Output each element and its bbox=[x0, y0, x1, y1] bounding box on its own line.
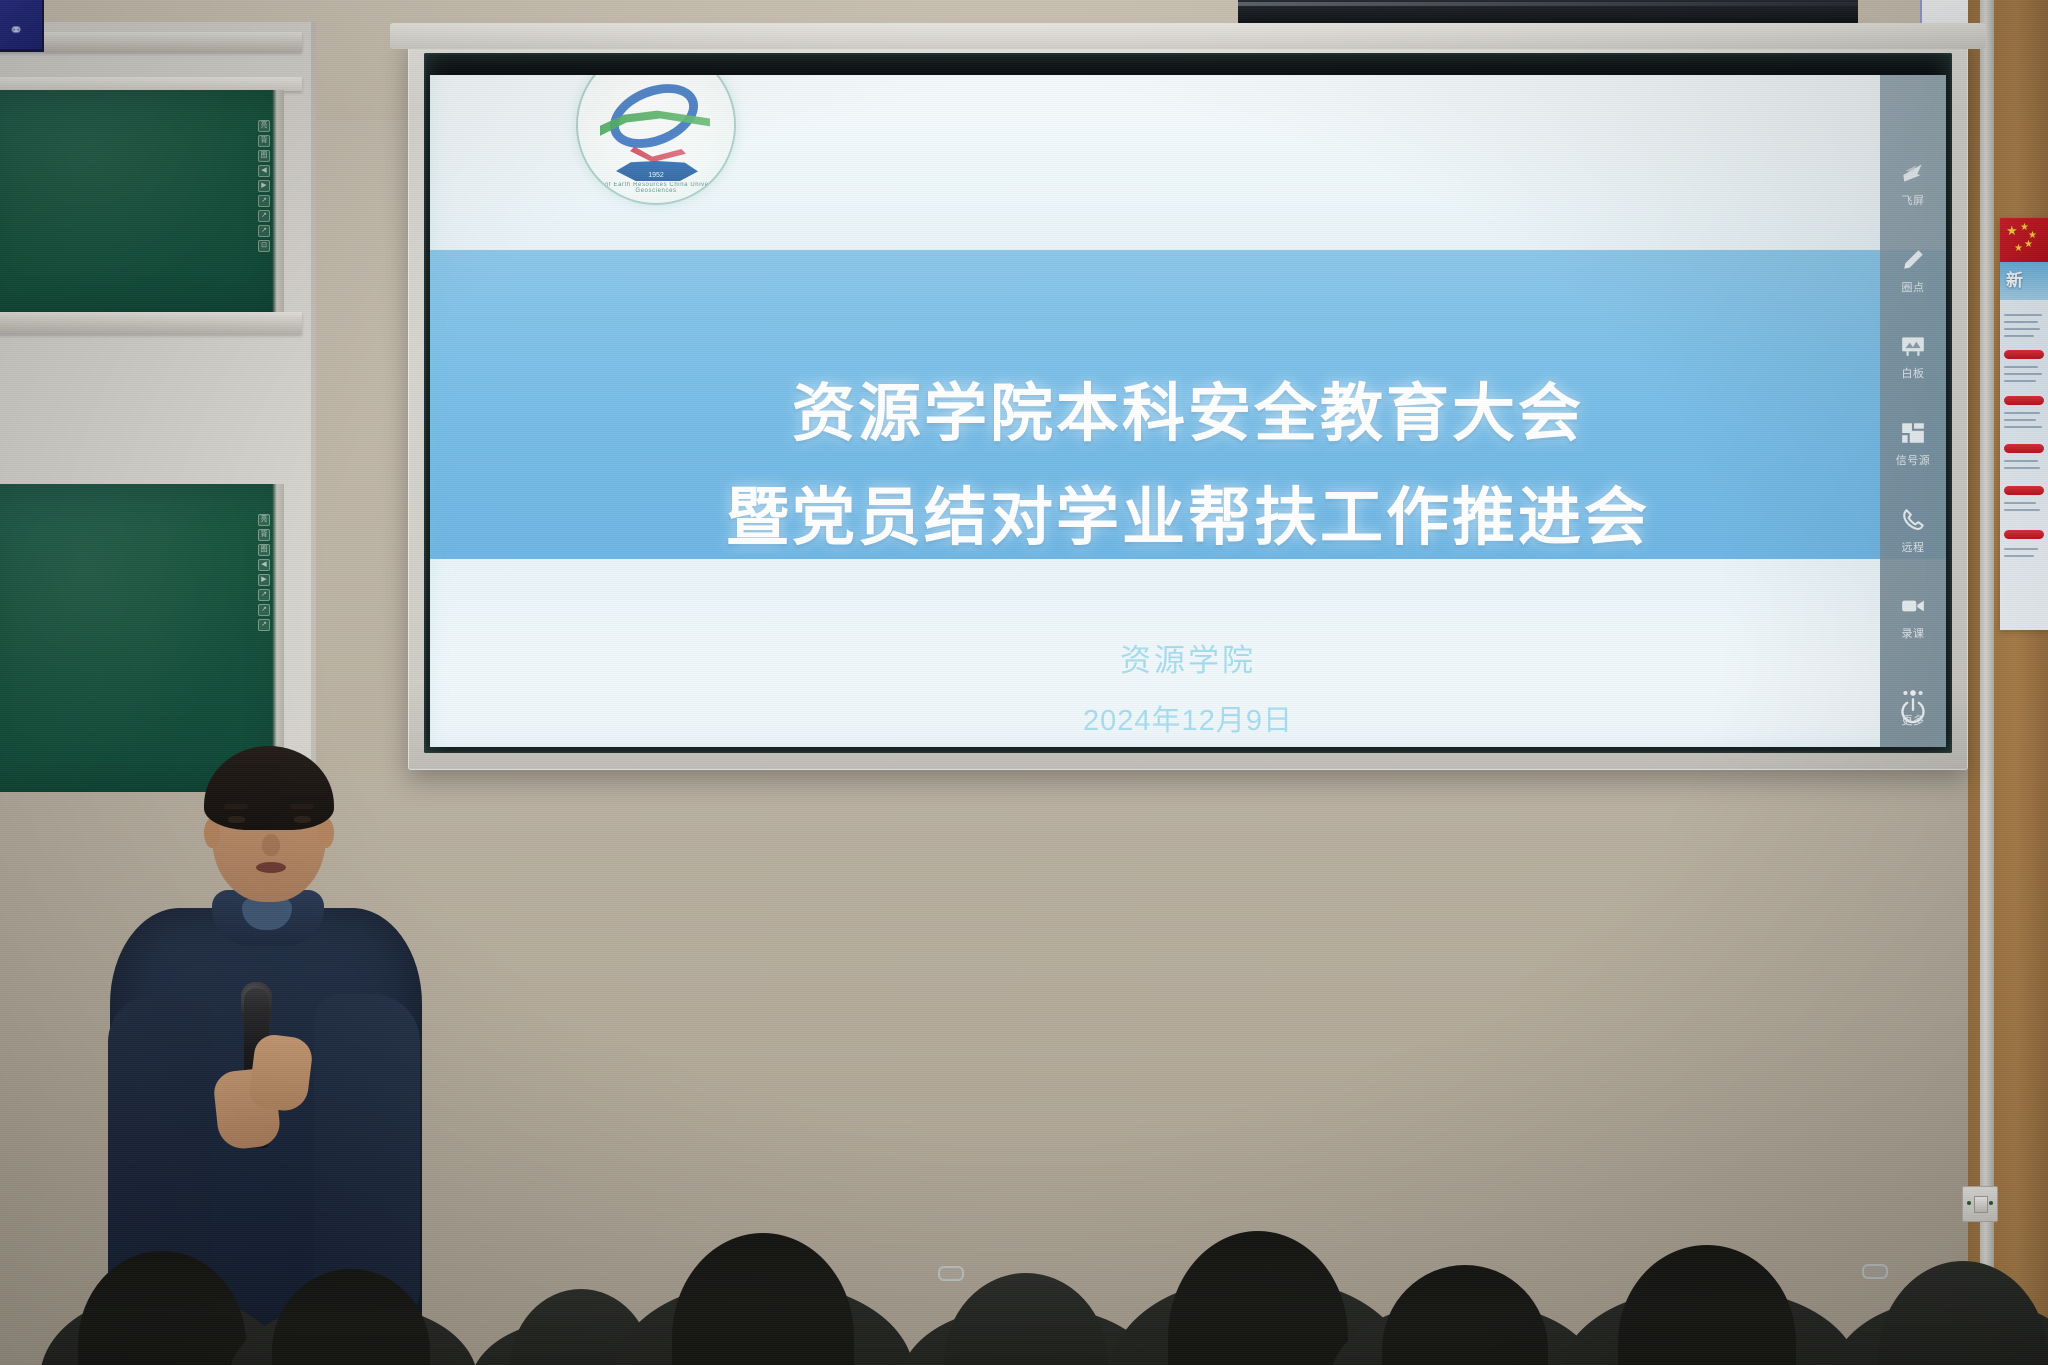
chalkboard-upper: 亮 背 图 ◀ ▶ ↗ ↗ ↗ ⊡ bbox=[0, 90, 284, 315]
toolbar-item-whiteboard[interactable]: 白板 bbox=[1880, 314, 1946, 401]
slide-date: 2024年12月9日 bbox=[430, 697, 1946, 739]
audience-head bbox=[1878, 1261, 2048, 1365]
audience-head bbox=[1168, 1231, 1348, 1365]
board-light-rail bbox=[0, 77, 302, 91]
presentation-slide: 中国地质大学资源学院 1952 School of Earth Resource… bbox=[430, 75, 1946, 747]
audience-head bbox=[1382, 1265, 1548, 1365]
classroom-scene: 亮 背 图 ◀ ▶ ↗ ↗ ↗ ⊡ 亮 背 图 ◀ ▶ ↗ ↗ ↗ bbox=[0, 0, 2048, 1365]
chalk-ctrl-5[interactable]: ▶ bbox=[258, 180, 270, 192]
chalk-ctrl-b5[interactable]: ▶ bbox=[258, 574, 270, 586]
toolbar-item-remote-call[interactable]: 远程 bbox=[1880, 487, 1946, 574]
audience-head bbox=[272, 1269, 430, 1365]
chalkboard-control-strip-upper[interactable]: 亮 背 图 ◀ ▶ ↗ ↗ ↗ ⊡ bbox=[258, 120, 270, 252]
toolbar-label-signal-source: 信号源 bbox=[1896, 452, 1931, 468]
poster-pill-4 bbox=[2004, 486, 2044, 495]
university-emblem-icon: 中国地质大学资源学院 1952 School of Earth Resource… bbox=[578, 75, 734, 203]
toolbar-label-cast: 飞屏 bbox=[1902, 192, 1925, 208]
toolbar-label-whiteboard: 白板 bbox=[1902, 365, 1925, 381]
signal-source-icon bbox=[1900, 420, 1926, 446]
presenter-hair bbox=[204, 746, 334, 830]
toolbar-label-annotate: 圈点 bbox=[1902, 279, 1925, 295]
audience-rows bbox=[0, 1175, 2048, 1365]
chalk-ctrl-b2[interactable]: 背 bbox=[258, 529, 270, 541]
smart-board-bezel: 中国地质大学资源学院 1952 School of Earth Resource… bbox=[424, 53, 1952, 753]
poster-pill-5 bbox=[2004, 530, 2044, 539]
board-middle-rail bbox=[0, 312, 302, 334]
slide-title-line-1: 资源学院本科安全教育大会 bbox=[430, 363, 1946, 454]
toolbar-item-annotate[interactable]: 圈点 bbox=[1880, 228, 1946, 315]
toolbar-label-record: 录课 bbox=[1902, 625, 1925, 641]
presenter-mouth bbox=[256, 862, 286, 873]
audience-head bbox=[944, 1273, 1108, 1365]
wall-seam bbox=[1980, 0, 1994, 1365]
whiteboard-icon bbox=[1900, 333, 1926, 359]
emblem-year: 1952 bbox=[578, 172, 734, 179]
toolbar-item-power[interactable] bbox=[1880, 697, 1946, 725]
chalk-ctrl-3[interactable]: 图 bbox=[258, 150, 270, 162]
slide-organization: 资源学院 bbox=[430, 635, 1946, 680]
poster-pill-3 bbox=[2004, 444, 2044, 453]
chalk-ctrl-7[interactable]: ↗ bbox=[258, 210, 270, 222]
phone-call-icon bbox=[1900, 507, 1926, 533]
video-camera-icon bbox=[1900, 593, 1926, 619]
chalk-ctrl-4[interactable]: ◀ bbox=[258, 165, 270, 177]
chalkboard-assembly: 亮 背 图 ◀ ▶ ↗ ↗ ↗ ⊡ 亮 背 图 ◀ ▶ ↗ ↗ ↗ bbox=[0, 22, 316, 770]
audience-glasses-icon bbox=[1862, 1264, 1888, 1279]
toolbar-item-record[interactable]: 录课 bbox=[1880, 574, 1946, 661]
wall-poster: ★ ★ ★ ★ ★ 新 bbox=[2000, 218, 2048, 630]
toolbar-item-signal-source[interactable]: 信号源 bbox=[1880, 401, 1946, 488]
slide-title-line-2: 暨党员结对学业帮扶工作推进会 bbox=[430, 467, 1946, 558]
chalkboard-control-strip-lower[interactable]: 亮 背 图 ◀ ▶ ↗ ↗ ↗ bbox=[258, 514, 270, 631]
display-glyph-icon: ⚭ bbox=[9, 22, 27, 40]
chalk-ctrl-1[interactable]: 亮 bbox=[258, 120, 270, 132]
chalk-ctrl-b7[interactable]: ↗ bbox=[258, 604, 270, 616]
smart-board-side-toolbar[interactable]: 飞屏 圈点 bbox=[1880, 75, 1946, 747]
audience-glasses-icon bbox=[938, 1266, 964, 1281]
chalk-ctrl-6[interactable]: ↗ bbox=[258, 195, 270, 207]
chalk-ctrl-9[interactable]: ⊡ bbox=[258, 240, 270, 252]
blue-status-display: ⚭ bbox=[0, 0, 44, 52]
poster-flag-header: ★ ★ ★ ★ ★ bbox=[2000, 218, 2048, 264]
audience-head bbox=[672, 1233, 854, 1365]
toolbar-item-cast[interactable]: 飞屏 bbox=[1880, 141, 1946, 228]
power-icon bbox=[1899, 697, 1927, 725]
poster-pill-2 bbox=[2004, 396, 2044, 405]
chalk-ctrl-2[interactable]: 背 bbox=[258, 135, 270, 147]
chalk-ctrl-b4[interactable]: ◀ bbox=[258, 559, 270, 571]
audience-head bbox=[1618, 1245, 1796, 1365]
emblem-ring-text-bottom: School of Earth Resources China Universi… bbox=[578, 182, 734, 194]
audience-head bbox=[78, 1251, 246, 1365]
chalk-ctrl-b1[interactable]: 亮 bbox=[258, 514, 270, 526]
pen-annotate-icon bbox=[1900, 247, 1926, 273]
chalk-ctrl-8[interactable]: ↗ bbox=[258, 225, 270, 237]
chalk-ctrl-b6[interactable]: ↗ bbox=[258, 589, 270, 601]
toolbar-label-remote-call: 远程 bbox=[1902, 539, 1925, 555]
chalk-ctrl-b8[interactable]: ↗ bbox=[258, 619, 270, 631]
cast-screen-icon bbox=[1900, 160, 1926, 186]
smart-board-frame: 中国地质大学资源学院 1952 School of Earth Resource… bbox=[408, 35, 1968, 770]
projection-surface[interactable]: 中国地质大学资源学院 1952 School of Earth Resource… bbox=[430, 75, 1946, 747]
poster-headline: 新 bbox=[2006, 266, 2023, 291]
board-top-rail bbox=[0, 32, 302, 52]
poster-pill-1 bbox=[2004, 350, 2044, 359]
chalk-ctrl-b3[interactable]: 图 bbox=[258, 544, 270, 556]
